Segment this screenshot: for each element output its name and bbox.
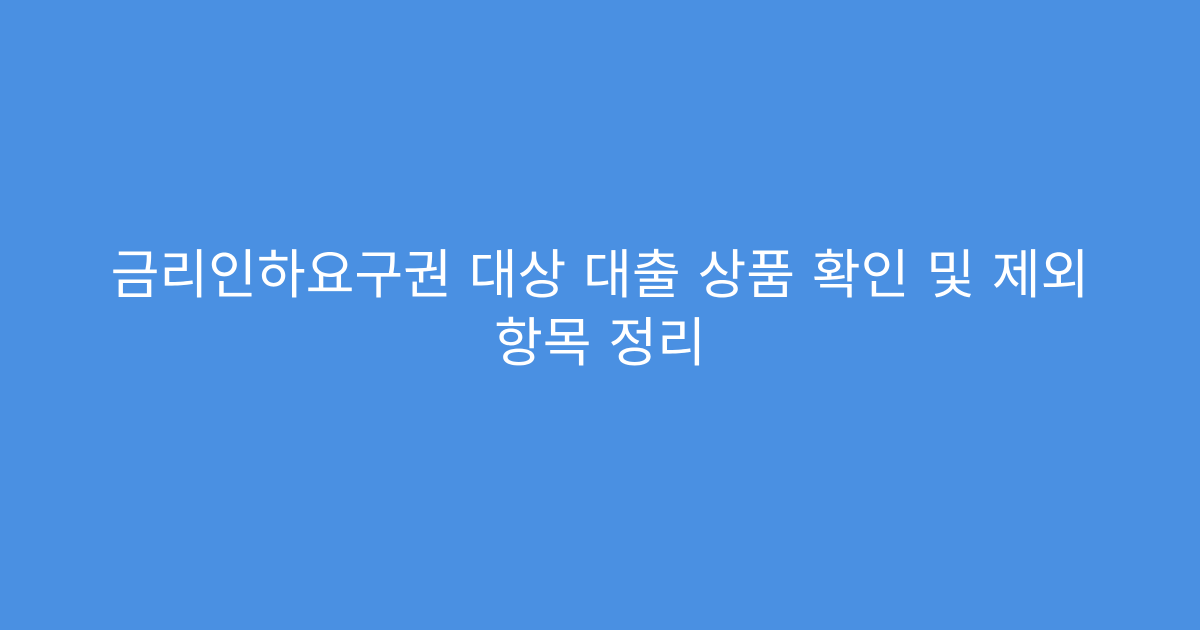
title-block: 금리인하요구권 대상 대출 상품 확인 및 제외 항목 정리: [0, 242, 1200, 378]
page-title: 금리인하요구권 대상 대출 상품 확인 및 제외 항목 정리: [72, 242, 1128, 378]
og-card: 금리인하요구권 대상 대출 상품 확인 및 제외 항목 정리: [0, 0, 1200, 630]
